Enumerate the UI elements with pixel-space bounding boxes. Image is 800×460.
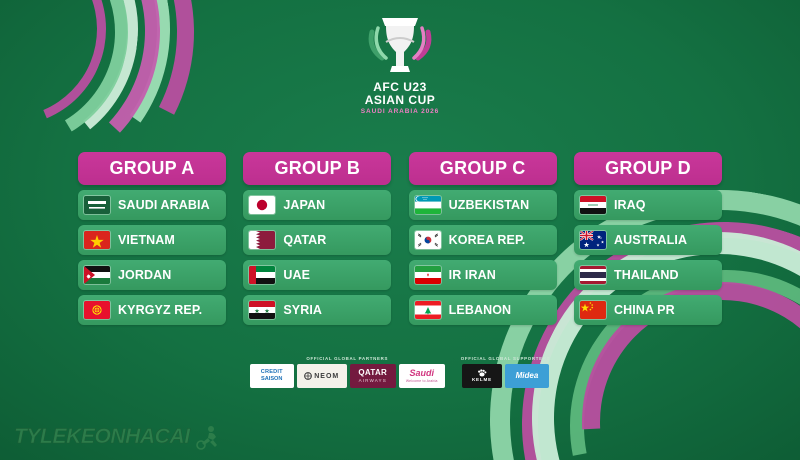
sponsor-name: CREDIT xyxy=(261,370,283,376)
team-row[interactable]: LEBANON xyxy=(409,295,557,325)
team-name: THAILAND xyxy=(614,268,679,282)
sponsors-bar: OFFICIAL GLOBAL PARTNERS CREDIT SAISON N… xyxy=(0,356,800,388)
sponsor-name: KELME xyxy=(472,378,492,383)
flag-iraq xyxy=(580,196,606,214)
neom-mark-icon xyxy=(304,372,312,380)
flag-japan xyxy=(249,196,275,214)
team-row[interactable]: UZBEKISTAN xyxy=(409,190,557,220)
team-row[interactable]: QATAR xyxy=(243,225,391,255)
team-name: SYRIA xyxy=(283,303,322,317)
team-row[interactable]: JAPAN xyxy=(243,190,391,220)
team-row[interactable]: SYRIA xyxy=(243,295,391,325)
team-row[interactable]: UAE xyxy=(243,260,391,290)
team-row[interactable]: CHINA PR xyxy=(574,295,722,325)
sponsor-logo-kelme: KELME xyxy=(462,364,502,388)
sponsor-logo-visit-saudi: Saudi Welcome to Arabia xyxy=(399,364,445,388)
group-header-a: GROUP A xyxy=(78,152,226,185)
flag-uzbekistan xyxy=(415,196,441,214)
team-row[interactable]: KYRGYZ REP. xyxy=(78,295,226,325)
flag-iran xyxy=(415,266,441,284)
team-name: IR IRAN xyxy=(449,268,496,282)
team-name: LEBANON xyxy=(449,303,512,317)
flag-thailand xyxy=(580,266,606,284)
sponsor-logo-qatar-airways: QATAR AIRWAYS xyxy=(350,364,396,388)
trophy-icon xyxy=(352,12,448,78)
sponsor-logo-credit-saison: CREDIT SAISON xyxy=(250,364,294,388)
sponsor-name-line2: SAISON xyxy=(261,376,282,382)
flag-qatar xyxy=(249,231,275,249)
group-column-d: GROUP D IRAQ AUSTRALIA THAILAND xyxy=(574,152,722,325)
team-name: UZBEKISTAN xyxy=(449,198,530,212)
official-global-partners-block: OFFICIAL GLOBAL PARTNERS CREDIT SAISON N… xyxy=(250,356,445,388)
paw-print-icon xyxy=(477,369,487,377)
sponsor-name: Midea xyxy=(516,372,539,380)
logo-line-2: ASIAN CUP xyxy=(365,94,436,107)
flag-china xyxy=(580,301,606,319)
team-row[interactable]: IRAQ xyxy=(574,190,722,220)
flag-jordan xyxy=(84,266,110,284)
logo-line-1: AFC U23 xyxy=(373,81,427,94)
soccer-player-icon xyxy=(194,424,224,450)
team-name: KYRGYZ REP. xyxy=(118,303,202,317)
team-name: JORDAN xyxy=(118,268,171,282)
watermark-text: TYLEKEONHACAI xyxy=(14,425,190,449)
team-row[interactable]: SAUDI ARABIA xyxy=(78,190,226,220)
flag-korea-republic xyxy=(415,231,441,249)
group-column-c: GROUP C UZBEKISTAN KOREA REP. IR IRAN xyxy=(409,152,557,325)
team-name: KOREA REP. xyxy=(449,233,526,247)
team-row[interactable]: KOREA REP. xyxy=(409,225,557,255)
group-header-c: GROUP C xyxy=(409,152,557,185)
supporters-logo-row: KELME Midea xyxy=(462,364,549,388)
flag-saudi-arabia xyxy=(84,196,110,214)
team-row[interactable]: VIETNAM xyxy=(78,225,226,255)
flag-vietnam xyxy=(84,231,110,249)
team-row[interactable]: THAILAND xyxy=(574,260,722,290)
sponsor-name: QATAR xyxy=(358,369,387,377)
tournament-group-draw-graphic: AFC U23 ASIAN CUP SAUDI ARABIA 2026 GROU… xyxy=(0,0,800,460)
group-header-d: GROUP D xyxy=(574,152,722,185)
sponsor-name: NEOM xyxy=(314,373,339,380)
sponsor-name-line2: AIRWAYS xyxy=(359,378,387,383)
tournament-logo: AFC U23 ASIAN CUP SAUDI ARABIA 2026 xyxy=(0,12,800,115)
logo-subtitle: SAUDI ARABIA 2026 xyxy=(361,108,439,115)
sponsor-logo-midea: Midea xyxy=(505,364,549,388)
team-row[interactable]: IR IRAN xyxy=(409,260,557,290)
team-name: JAPAN xyxy=(283,198,325,212)
sponsor-name: Saudi xyxy=(409,369,434,378)
flag-uae xyxy=(249,266,275,284)
team-name: CHINA PR xyxy=(614,303,675,317)
flag-lebanon xyxy=(415,301,441,319)
team-name: QATAR xyxy=(283,233,326,247)
watermark: TYLEKEONHACAI xyxy=(14,424,224,450)
supporters-label: OFFICIAL GLOBAL SUPPORTERS xyxy=(461,356,551,361)
flag-australia xyxy=(580,231,606,249)
group-header-b: GROUP B xyxy=(243,152,391,185)
team-name: VIETNAM xyxy=(118,233,175,247)
sponsor-name-line2: Welcome to Arabia xyxy=(406,379,438,383)
group-column-a: GROUP A SAUDI ARABIA VIETNAM JORDAN xyxy=(78,152,226,325)
flag-syria xyxy=(249,301,275,319)
team-name: UAE xyxy=(283,268,310,282)
team-name: SAUDI ARABIA xyxy=(118,198,210,212)
team-name: AUSTRALIA xyxy=(614,233,687,247)
partners-logo-row: CREDIT SAISON NEOM QATAR AIRWAYS Saudi W… xyxy=(250,364,445,388)
group-column-b: GROUP B JAPAN QATAR UAE xyxy=(243,152,391,325)
partners-label: OFFICIAL GLOBAL PARTNERS xyxy=(306,356,388,361)
sponsor-logo-neom: NEOM xyxy=(297,364,347,388)
groups-container: GROUP A SAUDI ARABIA VIETNAM JORDAN xyxy=(78,152,722,325)
flag-kyrgyzstan xyxy=(84,301,110,319)
official-global-supporters-block: OFFICIAL GLOBAL SUPPORTERS KELME Midea xyxy=(461,356,551,388)
team-row[interactable]: AUSTRALIA xyxy=(574,225,722,255)
team-name: IRAQ xyxy=(614,198,646,212)
team-row[interactable]: JORDAN xyxy=(78,260,226,290)
